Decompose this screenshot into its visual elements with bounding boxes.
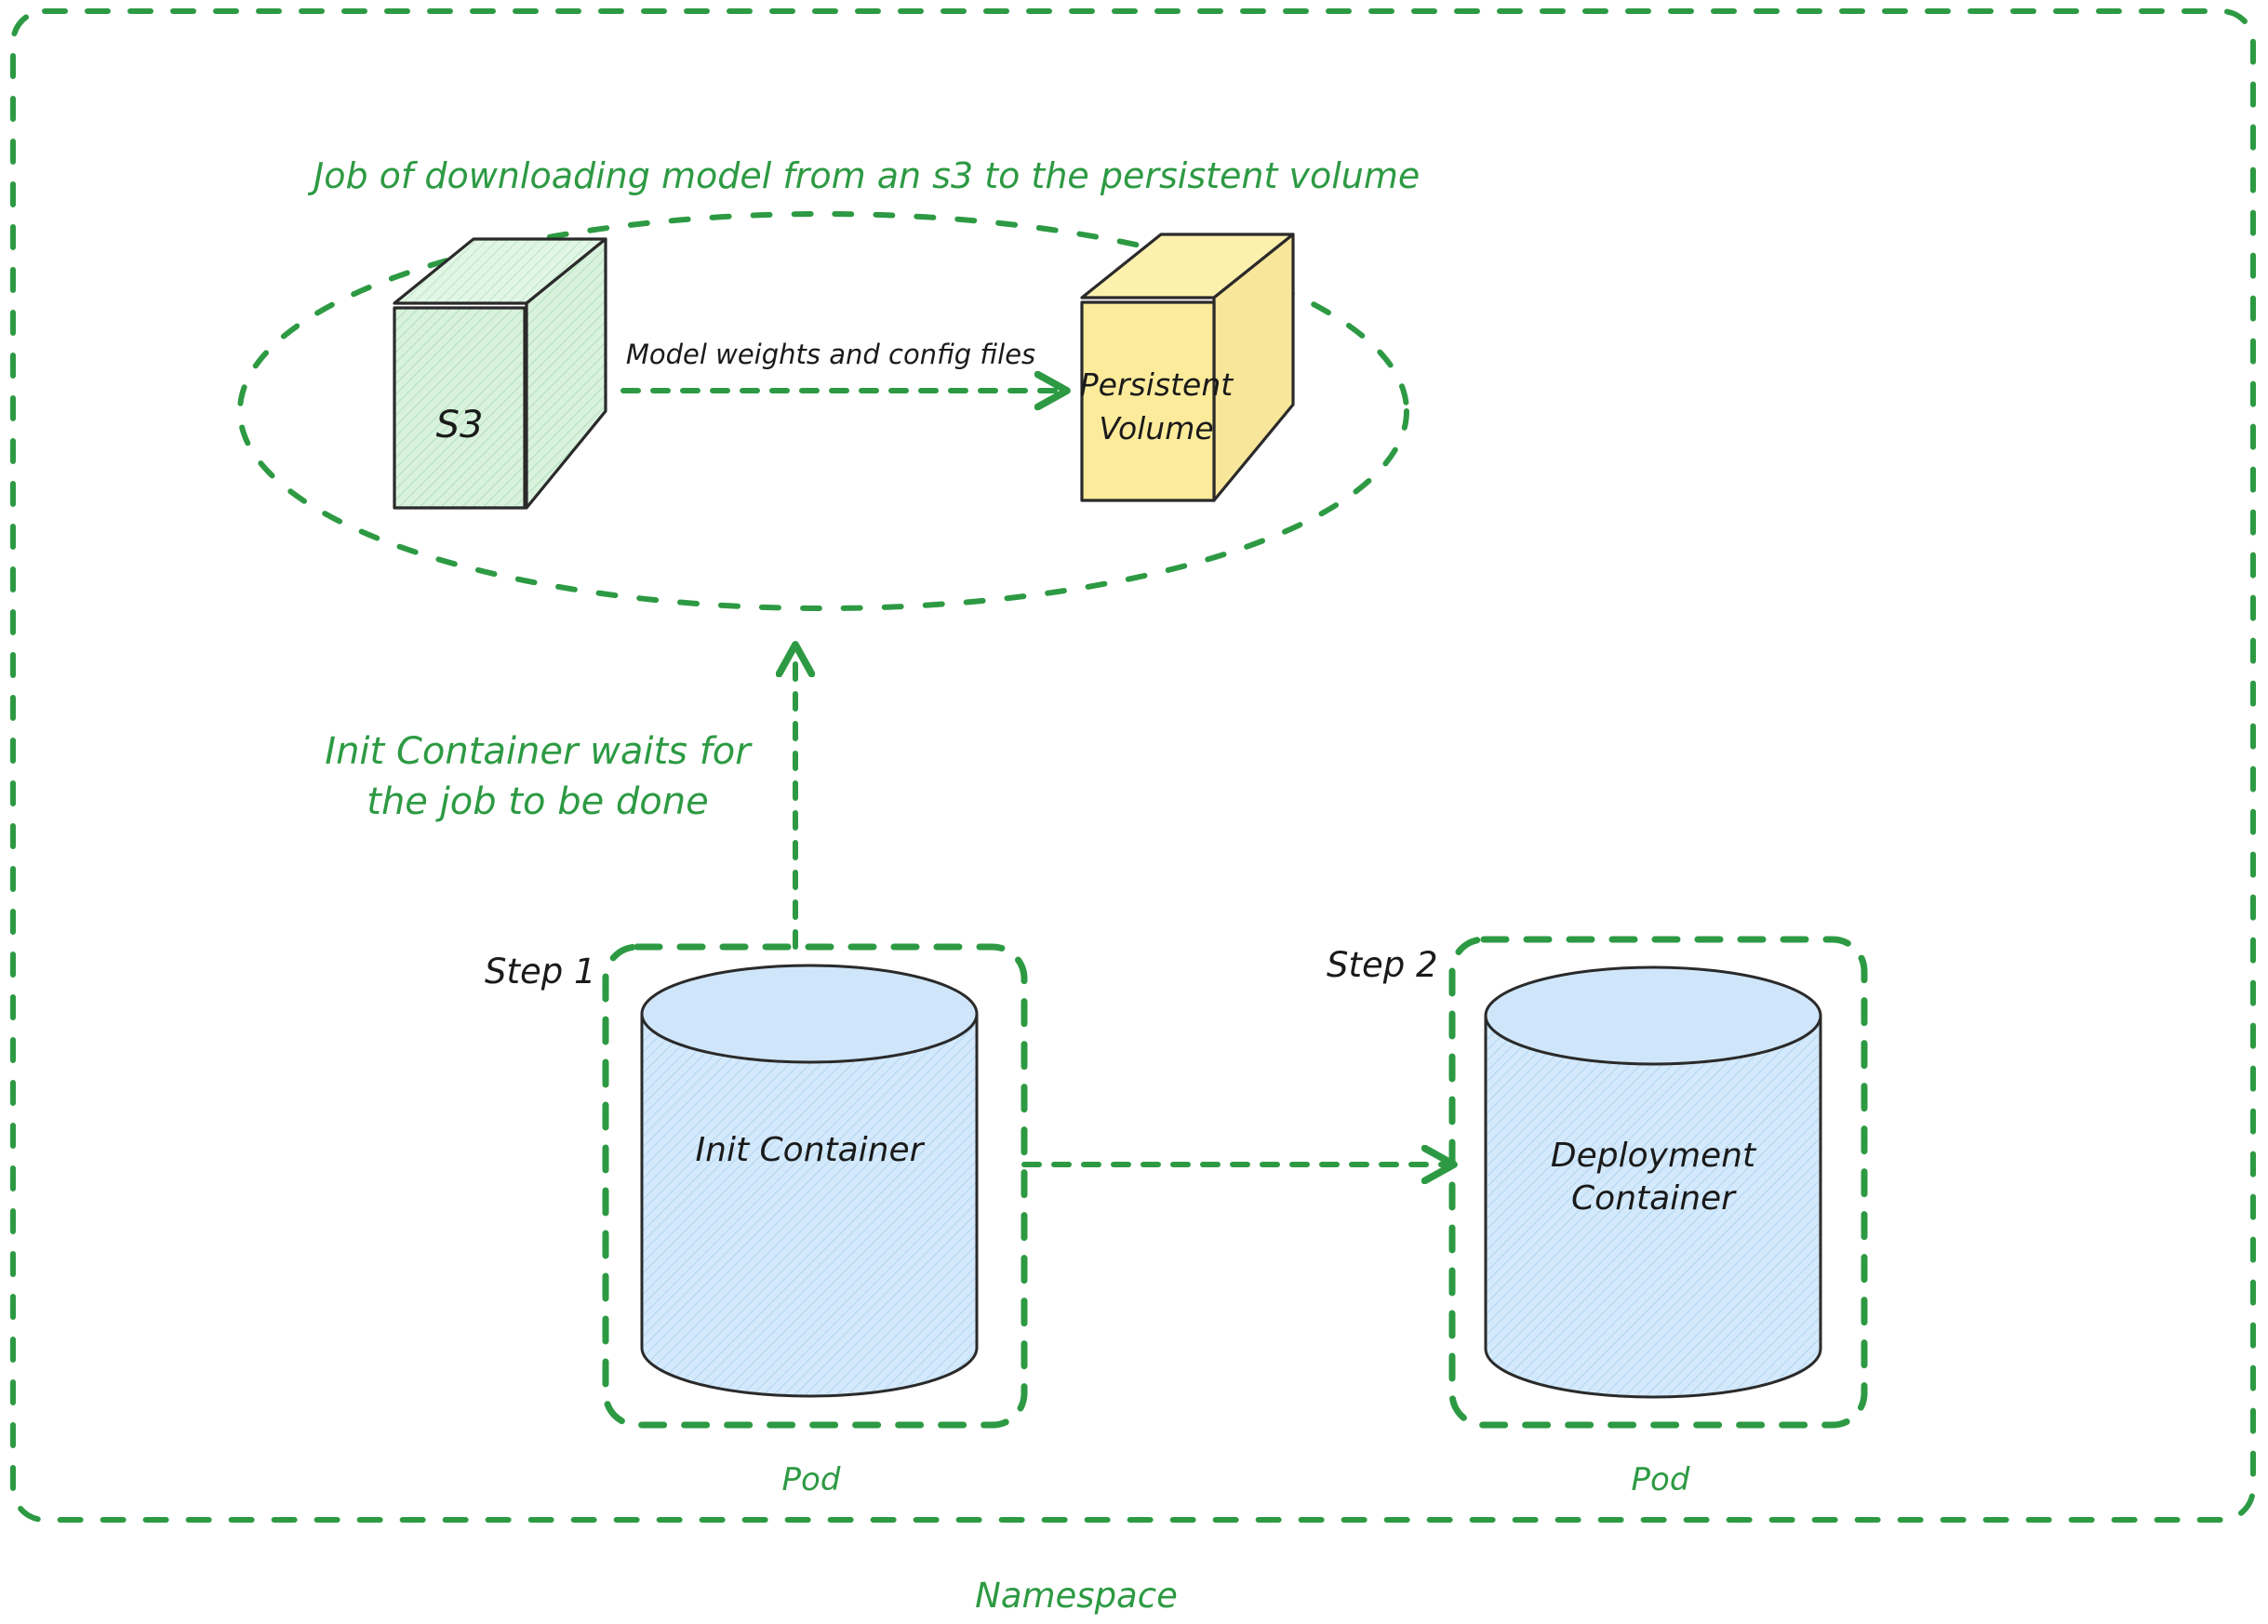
s3-label: S3 xyxy=(436,404,484,446)
init-wait-label-line2: the job to be done xyxy=(367,780,708,823)
init-container-label: Init Container xyxy=(696,1131,926,1169)
init-container-cylinder: Init Container xyxy=(642,965,977,1396)
persistent-volume-cube: Persistent Volume xyxy=(1080,234,1293,500)
persistent-volume-label-line1: Persistent xyxy=(1080,366,1234,403)
model-transfer-arrow-label: Model weights and config files xyxy=(626,339,1035,370)
pod-2-label: Pod xyxy=(1632,1461,1690,1498)
namespace-label: Namespace xyxy=(975,1576,1178,1616)
step-2-label: Step 2 xyxy=(1327,945,1438,985)
deployment-container-label-line2: Container xyxy=(1571,1179,1737,1218)
diagram-svg: S3 Persistent Volume Init Container xyxy=(0,0,2268,1624)
persistent-volume-label-line2: Volume xyxy=(1099,410,1213,446)
deployment-container-cylinder: Deployment Container xyxy=(1486,967,1821,1397)
diagram-canvas: S3 Persistent Volume Init Container xyxy=(0,0,2268,1624)
step-1-label: Step 1 xyxy=(485,952,596,992)
s3-cube: S3 xyxy=(394,239,606,508)
pod-1-label: Pod xyxy=(782,1461,841,1498)
diagram-title: Job of downloading model from an s3 to t… xyxy=(307,155,1420,196)
deployment-container-label-line1: Deployment xyxy=(1551,1137,1757,1175)
init-wait-label-line1: Init Container waits for xyxy=(325,730,753,773)
